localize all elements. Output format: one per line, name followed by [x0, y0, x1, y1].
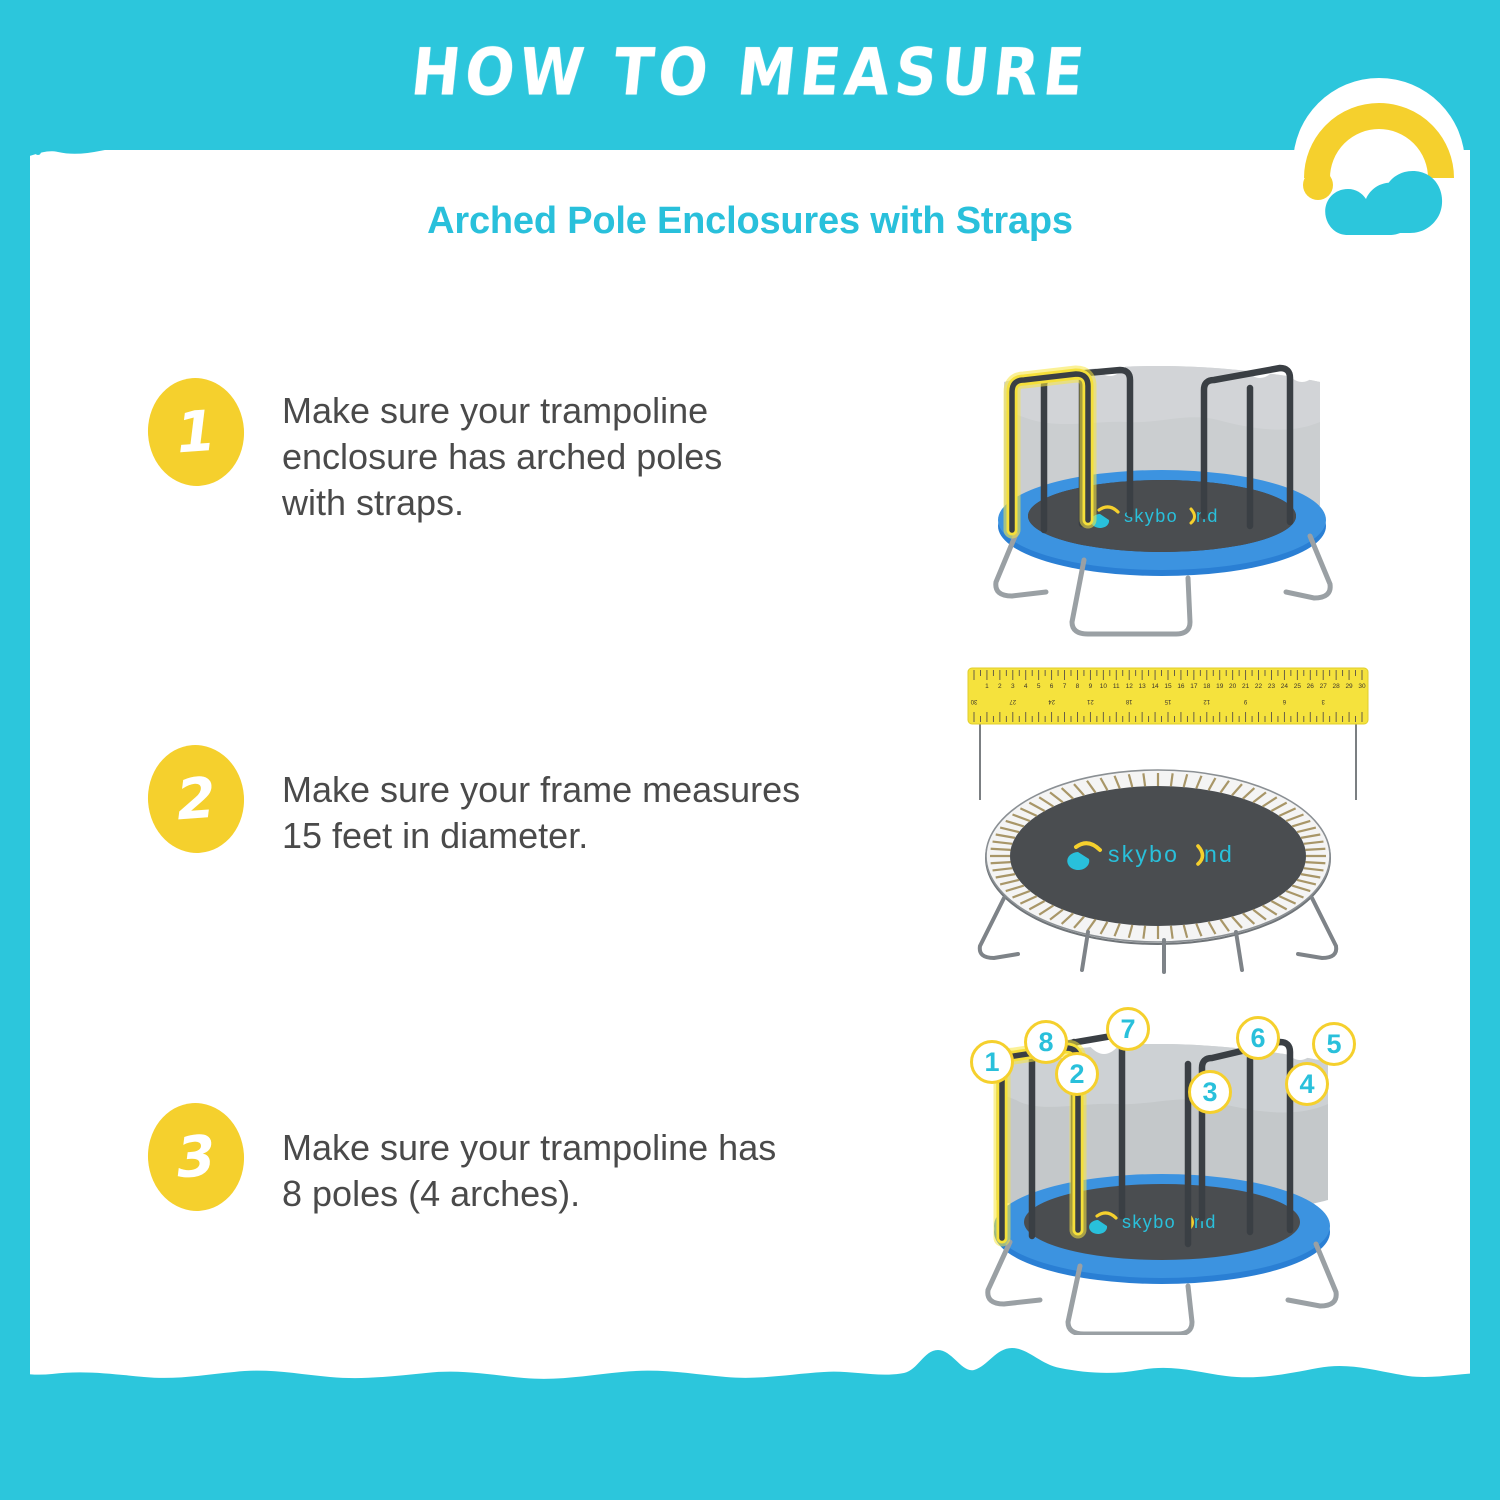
svg-text:skybo: skybo [1108, 841, 1179, 867]
step-number-badge-1: 1 [144, 375, 247, 489]
ruler-label-top: 4 [1024, 683, 1028, 690]
ruler-label-top: 28 [1333, 683, 1341, 690]
ruler-label-top: 16 [1177, 683, 1185, 690]
ruler-label-top: 9 [1089, 683, 1093, 690]
ruler-label-top: 12 [1126, 683, 1134, 690]
ruler-label-top: 20 [1229, 683, 1237, 690]
step-item-3: 3 Make sure your trampoline has 8 poles … [148, 1103, 776, 1217]
step-number-badge-3: 3 [144, 1100, 247, 1214]
ruler-label-top: 14 [1151, 683, 1159, 690]
step-item-2: 2 Make sure your frame measures 15 feet … [148, 745, 800, 859]
ruler-label-top: 13 [1139, 683, 1147, 690]
ruler-label-top: 6 [1050, 683, 1054, 690]
svg-text:nd: nd [1196, 506, 1219, 526]
pole-callout-5: 5 [1312, 1022, 1356, 1066]
ruler-label-top: 25 [1294, 683, 1302, 690]
step-item-1: 1 Make sure your trampoline enclosure ha… [148, 378, 722, 526]
pole-callout-7: 7 [1106, 1007, 1150, 1051]
ruler-label-top: 1 [985, 683, 989, 690]
svg-text:skybo: skybo [1122, 1212, 1176, 1232]
ruler-label-top: 21 [1242, 683, 1250, 690]
ruler-label-top: 3 [1011, 683, 1015, 690]
svg-text:nd: nd [1194, 1212, 1217, 1232]
svg-text:nd: nd [1204, 841, 1234, 867]
ruler-label-top: 24 [1281, 683, 1289, 690]
ruler-label-top: 26 [1307, 683, 1315, 690]
ruler-label-bottom: 18 [1125, 698, 1132, 704]
ruler-label-bottom: 15 [1164, 698, 1171, 704]
ruler-label-top: 5 [1037, 683, 1041, 690]
ruler-label-bottom: 24 [1048, 698, 1055, 704]
illustration-frame-with-ruler: 1234567891011121314151617181920212223242… [960, 660, 1380, 980]
pole-callout-4: 4 [1285, 1062, 1329, 1106]
subtitle: Arched Pole Enclosures with Straps [0, 200, 1500, 243]
bare-trampoline-frame: skybo nd [980, 770, 1336, 972]
page-title: HOW TO MEASURE [0, 34, 1500, 110]
ruler-label-top: 2 [998, 683, 1002, 690]
ruler-label-bottom: 30 [970, 698, 977, 704]
ruler-label-top: 30 [1358, 683, 1366, 690]
ruler-label-top: 15 [1164, 683, 1172, 690]
ruler-label-bottom: 27 [1009, 698, 1016, 704]
ruler-label-bottom: 21 [1086, 698, 1093, 704]
illustration-numbered-poles: skybo nd [940, 1000, 1370, 1335]
step-text-3: Make sure your trampoline has 8 poles (4… [282, 1103, 776, 1217]
ruler-icon: 1234567891011121314151617181920212223242… [968, 668, 1368, 724]
pole-callout-6: 6 [1236, 1016, 1280, 1060]
ruler-label-top: 10 [1100, 683, 1108, 690]
infographic-page: HOW TO MEASURE Arched Pole Enclosures wi… [0, 0, 1500, 1500]
illustration-arched-pole-trampoline: skybo nd [948, 330, 1368, 640]
pole-callout-3: 3 [1188, 1070, 1232, 1114]
step-number-badge-2: 2 [144, 742, 247, 856]
ruler-label-top: 7 [1063, 683, 1067, 690]
bottom-banner-band [0, 1385, 1500, 1500]
pole-callout-8: 8 [1024, 1020, 1068, 1064]
step-text-2: Make sure your frame measures 15 feet in… [282, 745, 800, 859]
ruler-label-top: 22 [1255, 683, 1263, 690]
ruler-label-top: 17 [1190, 683, 1198, 690]
step-text-1: Make sure your trampoline enclosure has … [282, 378, 722, 526]
ruler-label-bottom: 12 [1203, 698, 1210, 704]
ruler-label-top: 29 [1345, 683, 1353, 690]
ruler-label-top: 18 [1203, 683, 1211, 690]
ruler-label-top: 27 [1320, 683, 1328, 690]
ruler-label-top: 23 [1268, 683, 1276, 690]
pole-callout-2: 2 [1055, 1052, 1099, 1096]
ruler-label-top: 11 [1113, 683, 1120, 690]
ruler-label-top: 8 [1076, 683, 1080, 690]
ruler-label-top: 19 [1216, 683, 1224, 690]
pole-callout-1: 1 [970, 1040, 1014, 1084]
